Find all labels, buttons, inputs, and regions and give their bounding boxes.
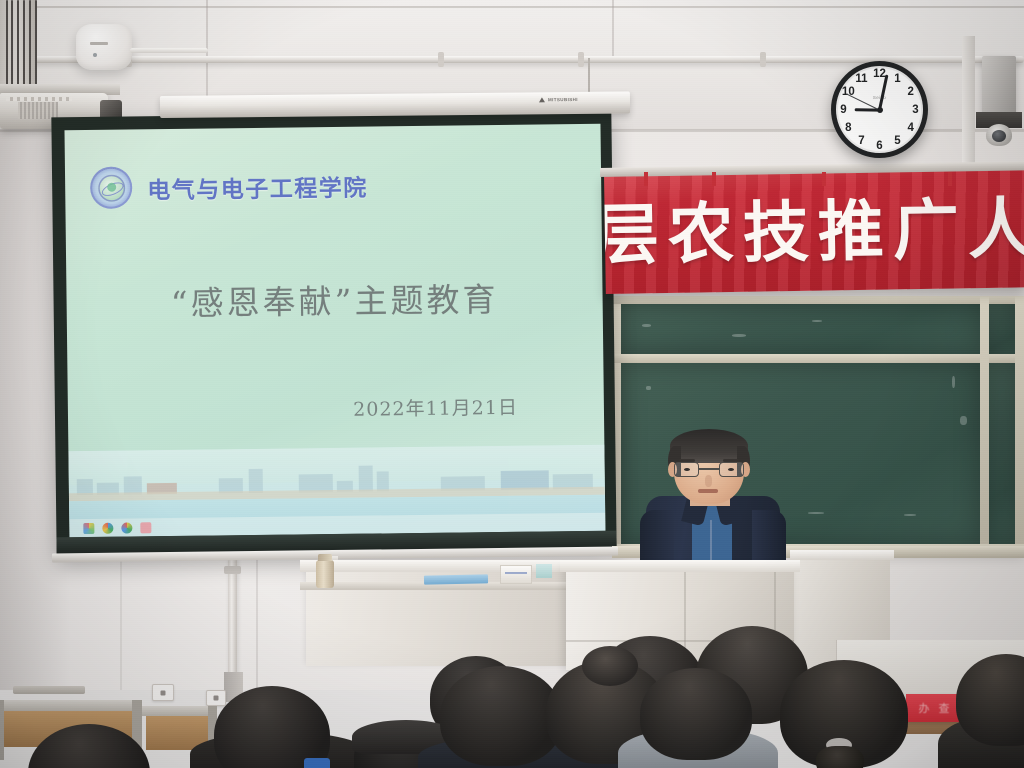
student-head [440, 666, 562, 766]
conduit-joint [224, 566, 241, 574]
panorama-building [359, 466, 373, 492]
thermos-flask[interactable] [316, 560, 334, 588]
triangle-icon [539, 97, 545, 102]
chrome-icon[interactable] [121, 522, 132, 533]
slide-title: “感恩奉献”主题教育 [66, 272, 603, 327]
dome-security-camera [986, 124, 1012, 146]
chrome-icon[interactable] [102, 522, 113, 533]
wall-seam-vertical-b [612, 0, 614, 58]
chalk-mark [812, 320, 822, 322]
chalk-mark [904, 514, 916, 516]
chalk-mark [808, 512, 824, 514]
clock-numeral: 5 [894, 135, 900, 147]
glasses-bridge [699, 468, 719, 470]
wall-pillar [962, 36, 975, 166]
student-head [956, 654, 1024, 746]
speaker-eye-left [684, 468, 690, 471]
chalk-mark [960, 416, 967, 425]
banner-clip [822, 172, 826, 186]
clock-numeral: 9 [840, 104, 846, 116]
student-head [640, 668, 752, 760]
panorama-building [249, 469, 263, 493]
projection-screen-housing: MITSUBISHI [160, 91, 630, 118]
blackboard-frame-top [612, 296, 1024, 304]
ponytail [816, 746, 864, 768]
banner-text: 层农技推广人 [604, 175, 1024, 278]
banner-clip [644, 172, 648, 186]
clock-numeral: 2 [907, 86, 913, 98]
screen-brand-text: MITSUBISHI [548, 97, 578, 102]
chalk-mark [646, 386, 651, 390]
blackboard-frame-right [1015, 296, 1024, 552]
speaker-mouth [698, 489, 718, 493]
blackboard-panel-upper-right [989, 304, 1015, 354]
wall-seam-upper [0, 6, 1024, 8]
conduit-clip [438, 52, 444, 67]
teal-booklet[interactable] [536, 564, 552, 578]
classroom-photo: MITSUBISHI 电气与电子工程学院 “感恩奉献”主题教育 2022年11月… [0, 0, 1024, 768]
access-point-label [90, 42, 108, 45]
projector-cable-bundle [2, 0, 48, 96]
conduit-clip [760, 52, 766, 67]
teacher-desk-top [300, 560, 576, 572]
banner-clip [948, 172, 952, 186]
access-point-cable [130, 48, 208, 53]
projection-screen: 电气与电子工程学院 “感恩奉献”主题教育 2022年11月21日 [51, 111, 616, 558]
clock-numeral: 8 [845, 122, 851, 134]
student-head [214, 686, 330, 768]
side-cabinet-top [790, 550, 894, 560]
red-event-banner: 层农技推广人 [604, 169, 1024, 294]
university-college-emblem [90, 166, 133, 209]
emblem-inner-globe [98, 174, 125, 201]
backpack-strap [304, 758, 330, 768]
wall-mounted-speaker [982, 56, 1016, 114]
student-head [28, 724, 150, 768]
slide-campus-panorama [68, 445, 605, 538]
lectern-podium-top [560, 560, 800, 572]
nameplate-text-line [505, 572, 527, 574]
speaker-nose [705, 475, 712, 487]
clock-numeral: 7 [858, 135, 864, 147]
access-point-led [93, 53, 97, 57]
clock-numeral: 6 [876, 140, 882, 152]
clock-numeral: 4 [907, 122, 913, 134]
blackboard-frame-divider-h [612, 354, 1024, 363]
flask-cap [318, 554, 332, 561]
chalk-mark [952, 376, 955, 388]
clock-numeral: 3 [912, 104, 918, 116]
blackboard-panel-upper-left [621, 304, 980, 354]
mitsubishi-logo: MITSUBISHI [539, 97, 578, 102]
white-nameplate[interactable] [500, 565, 532, 584]
clock-numeral: 11 [855, 72, 867, 84]
clock-numeral: 1 [894, 72, 900, 84]
conduit-clip [578, 52, 584, 67]
projector-vent-top [6, 97, 72, 101]
blackboard-frame-divider-v [980, 296, 989, 552]
projected-slide: 电气与电子工程学院 “感恩奉献”主题教育 2022年11月21日 [64, 124, 605, 538]
slide-organization-name: 电气与电子工程学院 [147, 169, 368, 206]
audience-front-row [0, 620, 1024, 768]
chalk-mark [642, 324, 651, 327]
banner-clip [712, 172, 716, 186]
hair-bun [582, 646, 638, 686]
wall-clock: Seiko 12 1 2 3 4 5 6 7 8 9 10 11 [831, 61, 928, 158]
blackboard-panel-right [989, 363, 1015, 544]
blue-folder[interactable] [424, 574, 488, 584]
wifi-access-point [76, 24, 132, 70]
slide-date: 2022年11月21日 [68, 392, 604, 426]
chalk-mark [732, 334, 746, 337]
photoshop-icon[interactable] [140, 522, 151, 533]
photos-icon[interactable] [83, 522, 94, 533]
speaker-eye-right [728, 468, 734, 471]
clock-center-pin [877, 107, 883, 113]
